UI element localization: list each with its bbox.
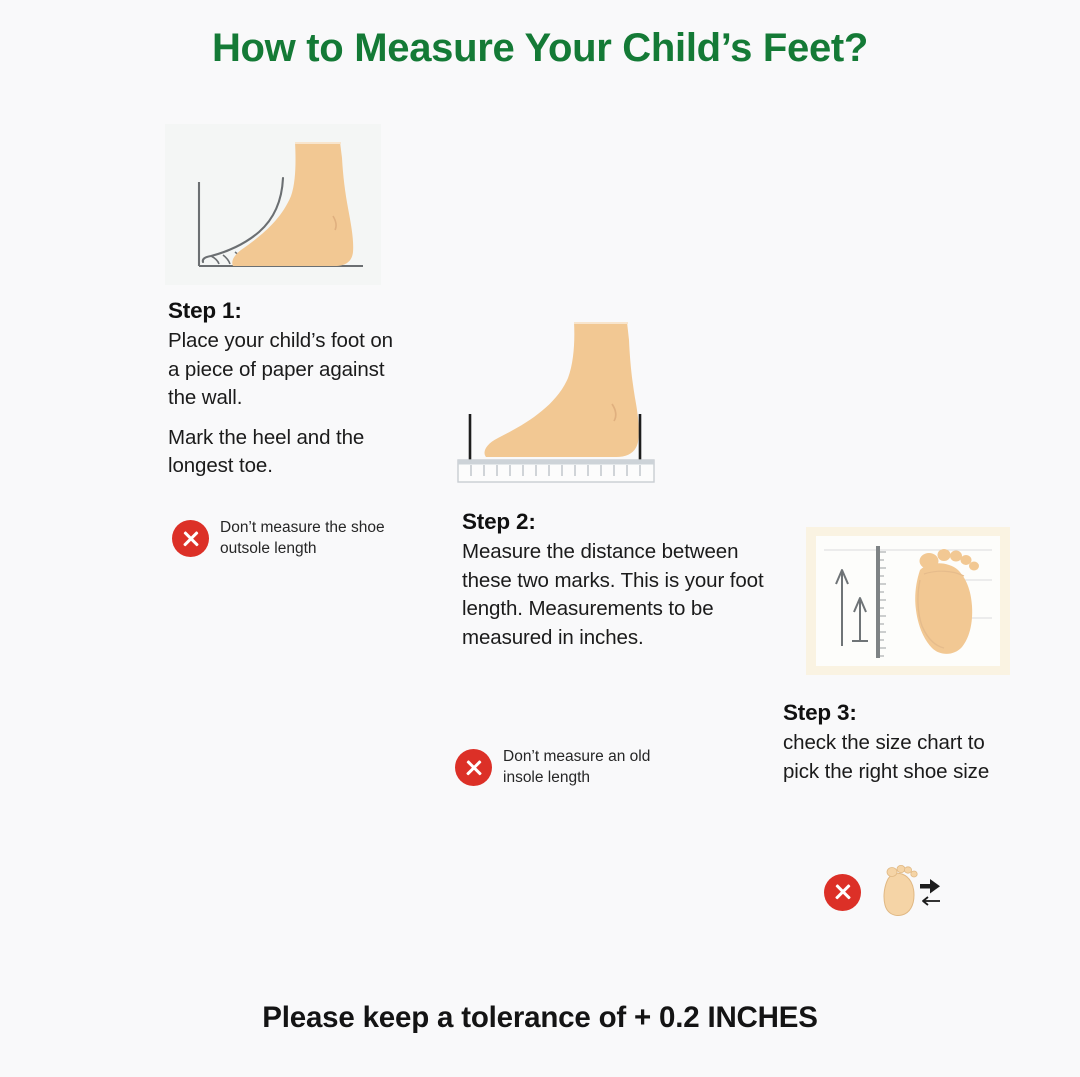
infographic-page: How to Measure Your Child’s Feet? Step 1… <box>0 0 1080 1077</box>
step-1-heading: Step 1: <box>168 298 398 324</box>
vertical-ruler-ticks <box>880 552 886 656</box>
red-x-circle-icon <box>824 874 861 911</box>
red-x-circle-icon <box>172 520 209 557</box>
step-2-warning-text: Don’t measure an old insole length <box>503 747 675 788</box>
step-2-illustration-panel <box>452 300 682 485</box>
tolerance-note: Please keep a tolerance of + 0.2 INCHES <box>0 1001 1080 1035</box>
footprint-with-vertical-ruler-icon <box>816 536 1000 666</box>
step-1-illustration-panel <box>165 124 381 285</box>
arrow-right-icon <box>920 879 940 894</box>
step-3-text-block: Step 3: check the size chart to pick the… <box>783 700 1018 786</box>
step-1-warning-text: Don’t measure the shoe outsole length <box>220 518 387 559</box>
step-1-paragraph-2: Mark the heel and the longest toe. <box>168 424 398 481</box>
step-2-heading: Step 2: <box>462 509 777 535</box>
page-title: How to Measure Your Child’s Feet? <box>0 26 1080 71</box>
step-2-text-block: Step 2: Measure the distance between the… <box>462 509 777 652</box>
step-3-warning <box>824 863 984 921</box>
step-3-heading: Step 3: <box>783 700 1018 726</box>
step-1-text-block: Step 1: Place your child’s foot on a pie… <box>168 298 398 481</box>
step-3-illustration-panel <box>806 527 1010 675</box>
short-measure-arrow-icon <box>852 598 868 641</box>
step-1-paragraph-1: Place your child’s foot on a piece of pa… <box>168 327 398 413</box>
foot-side-on-ruler-icon <box>452 300 682 485</box>
foot-width-arrows-icon <box>872 863 942 921</box>
step-1-warning: Don’t measure the shoe outsole length <box>172 518 387 559</box>
red-x-circle-icon <box>455 749 492 786</box>
step-2-paragraph-1: Measure the distance between these two m… <box>462 538 777 652</box>
arrow-left-icon <box>923 897 940 905</box>
foot-side-against-wall-icon <box>165 124 381 285</box>
step-3-paragraph-1: check the size chart to pick the right s… <box>783 729 1018 786</box>
long-measure-arrow-icon <box>836 570 848 646</box>
step-2-warning: Don’t measure an old insole length <box>455 747 675 788</box>
